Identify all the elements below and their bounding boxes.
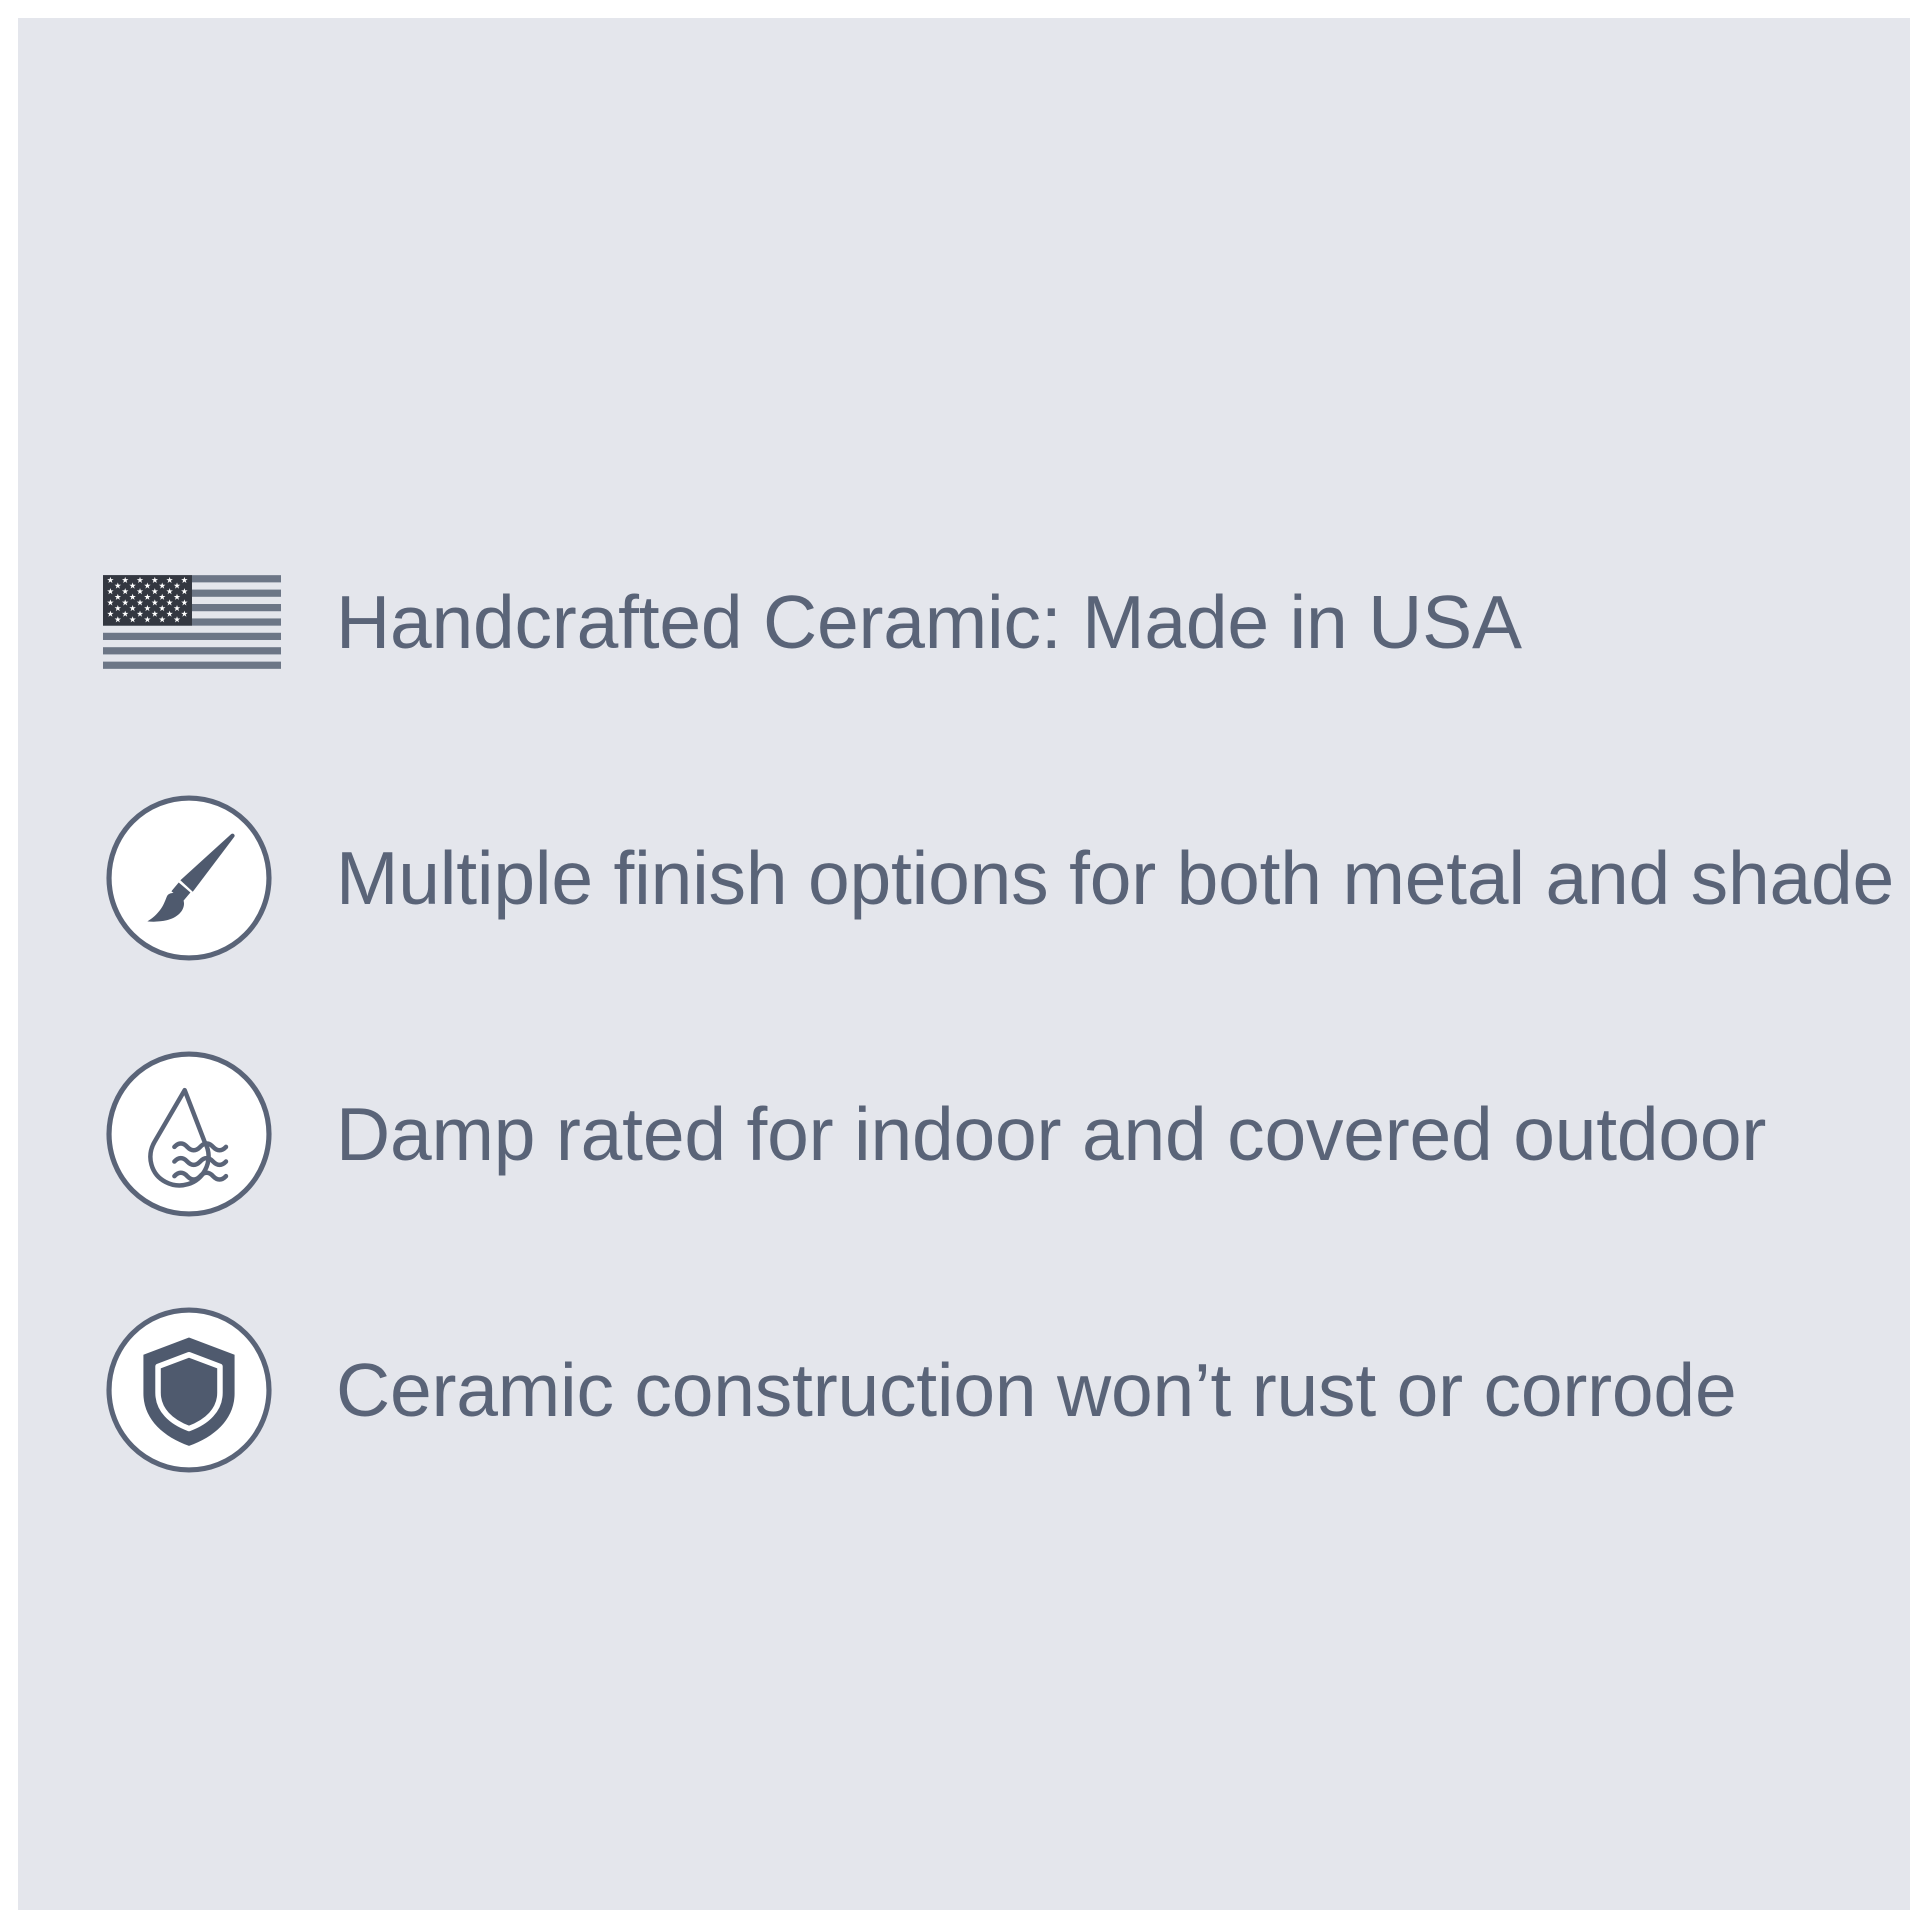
feature-list-graphic: Handcrafted Ceramic: Made in USA bbox=[0, 0, 1928, 1928]
paintbrush-icon bbox=[103, 792, 275, 964]
feature-label: Damp rated for indoor and covered outdoo… bbox=[336, 1094, 1766, 1175]
feature-label: Multiple finish options for both metal a… bbox=[336, 838, 1894, 919]
water-droplet-waves-icon bbox=[103, 1048, 275, 1220]
feature-row: Multiple finish options for both metal a… bbox=[18, 750, 1910, 1006]
feature-row: Ceramic construction won’t rust or corro… bbox=[18, 1262, 1910, 1518]
icon-slot bbox=[103, 789, 281, 967]
icon-slot bbox=[103, 1045, 281, 1223]
feature-row: Damp rated for indoor and covered outdoo… bbox=[18, 1006, 1910, 1262]
feature-label: Handcrafted Ceramic: Made in USA bbox=[336, 582, 1522, 663]
usa-flag-icon bbox=[103, 575, 281, 669]
feature-list: Handcrafted Ceramic: Made in USA bbox=[18, 494, 1910, 1518]
feature-label: Ceramic construction won’t rust or corro… bbox=[336, 1350, 1736, 1431]
background-panel: Handcrafted Ceramic: Made in USA bbox=[18, 18, 1910, 1910]
icon-slot bbox=[103, 533, 281, 711]
icon-slot bbox=[103, 1301, 281, 1479]
feature-row: Handcrafted Ceramic: Made in USA bbox=[18, 494, 1910, 750]
shield-icon bbox=[103, 1304, 275, 1476]
